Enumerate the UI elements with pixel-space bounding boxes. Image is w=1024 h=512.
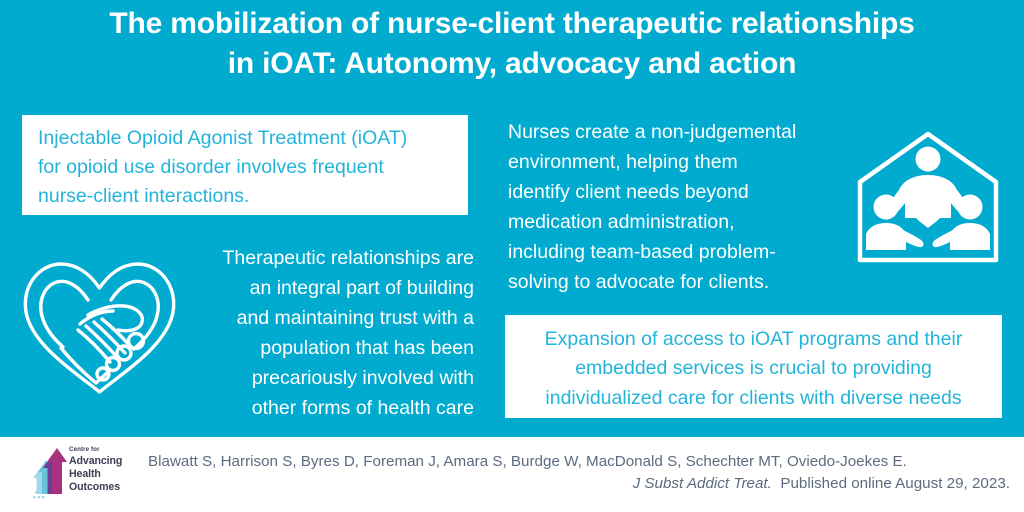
citation-journal: J Subst Addict Treat. [633,475,772,492]
citation-authors: Blawatt S, Harrison S, Byres D, Foreman … [148,451,1010,473]
heart-handshake-icon [18,252,181,398]
citation: Blawatt S, Harrison S, Byres D, Foreman … [148,451,1010,494]
organization-logo: Centre for Advancing Health Outcomes [29,444,141,500]
nurses-line-5: including team-based problem- [508,237,848,267]
logo-word-health: Health [69,468,143,481]
logo-word-outcomes: Outcomes [69,481,143,494]
nurses-line-1: Nurses create a non-judgemental [508,117,848,147]
infographic-poster: The mobilization of nurse-client therape… [0,0,1024,512]
therapeutic-line-4: population that has been [178,333,474,363]
title-line-1: The mobilization of nurse-client therape… [14,4,1010,44]
nurses-line-4: medication administration, [508,207,848,237]
therapeutic-line-2: an integral part of building [178,273,474,303]
title-line-2: in iOAT: Autonomy, advocacy and action [14,44,1010,84]
text-block-nurses: Nurses create a non-judgemental environm… [508,117,848,297]
house-family-heart-icon [852,128,1004,268]
page-title: The mobilization of nurse-client therape… [0,4,1024,83]
upward-arrows-logo-icon [29,444,71,500]
citation-source: J Subst Addict Treat. Published online A… [148,473,1010,495]
card-expansion-line-2: embedded services is crucial to providin… [521,354,986,383]
therapeutic-line-5: precariously involved with [178,363,474,393]
card-expansion-line-3: individualized care for clients with div… [521,384,986,413]
card-ioat-line-3: nurse-client interactions. [38,182,452,211]
logo-eyebrow-text: Centre for [69,447,143,454]
callout-card-ioat: Injectable Opioid Agonist Treatment (iOA… [22,115,468,215]
footer: Centre for Advancing Health Outcomes Bla… [0,437,1024,512]
nurses-line-2: environment, helping them [508,147,848,177]
logo-word-advancing: Advancing [69,455,143,468]
card-ioat-line-2: for opioid use disorder involves frequen… [38,153,452,182]
callout-card-expansion: Expansion of access to iOAT programs and… [505,315,1002,418]
nurses-line-3: identify client needs beyond [508,177,848,207]
therapeutic-line-6: other forms of health care [178,393,474,423]
card-expansion-line-1: Expansion of access to iOAT programs and… [521,325,986,354]
citation-publication-date: Published online August 29, 2023. [780,475,1010,492]
logo-wordmark: Centre for Advancing Health Outcomes [69,447,143,494]
therapeutic-line-3: and maintaining trust with a [178,303,474,333]
card-ioat-line-1: Injectable Opioid Agonist Treatment (iOA… [38,124,452,153]
therapeutic-line-1: Therapeutic relationships are [178,243,474,273]
text-block-therapeutic-relationships: Therapeutic relationships are an integra… [178,243,474,423]
nurses-line-6: solving to advocate for clients. [508,267,848,297]
